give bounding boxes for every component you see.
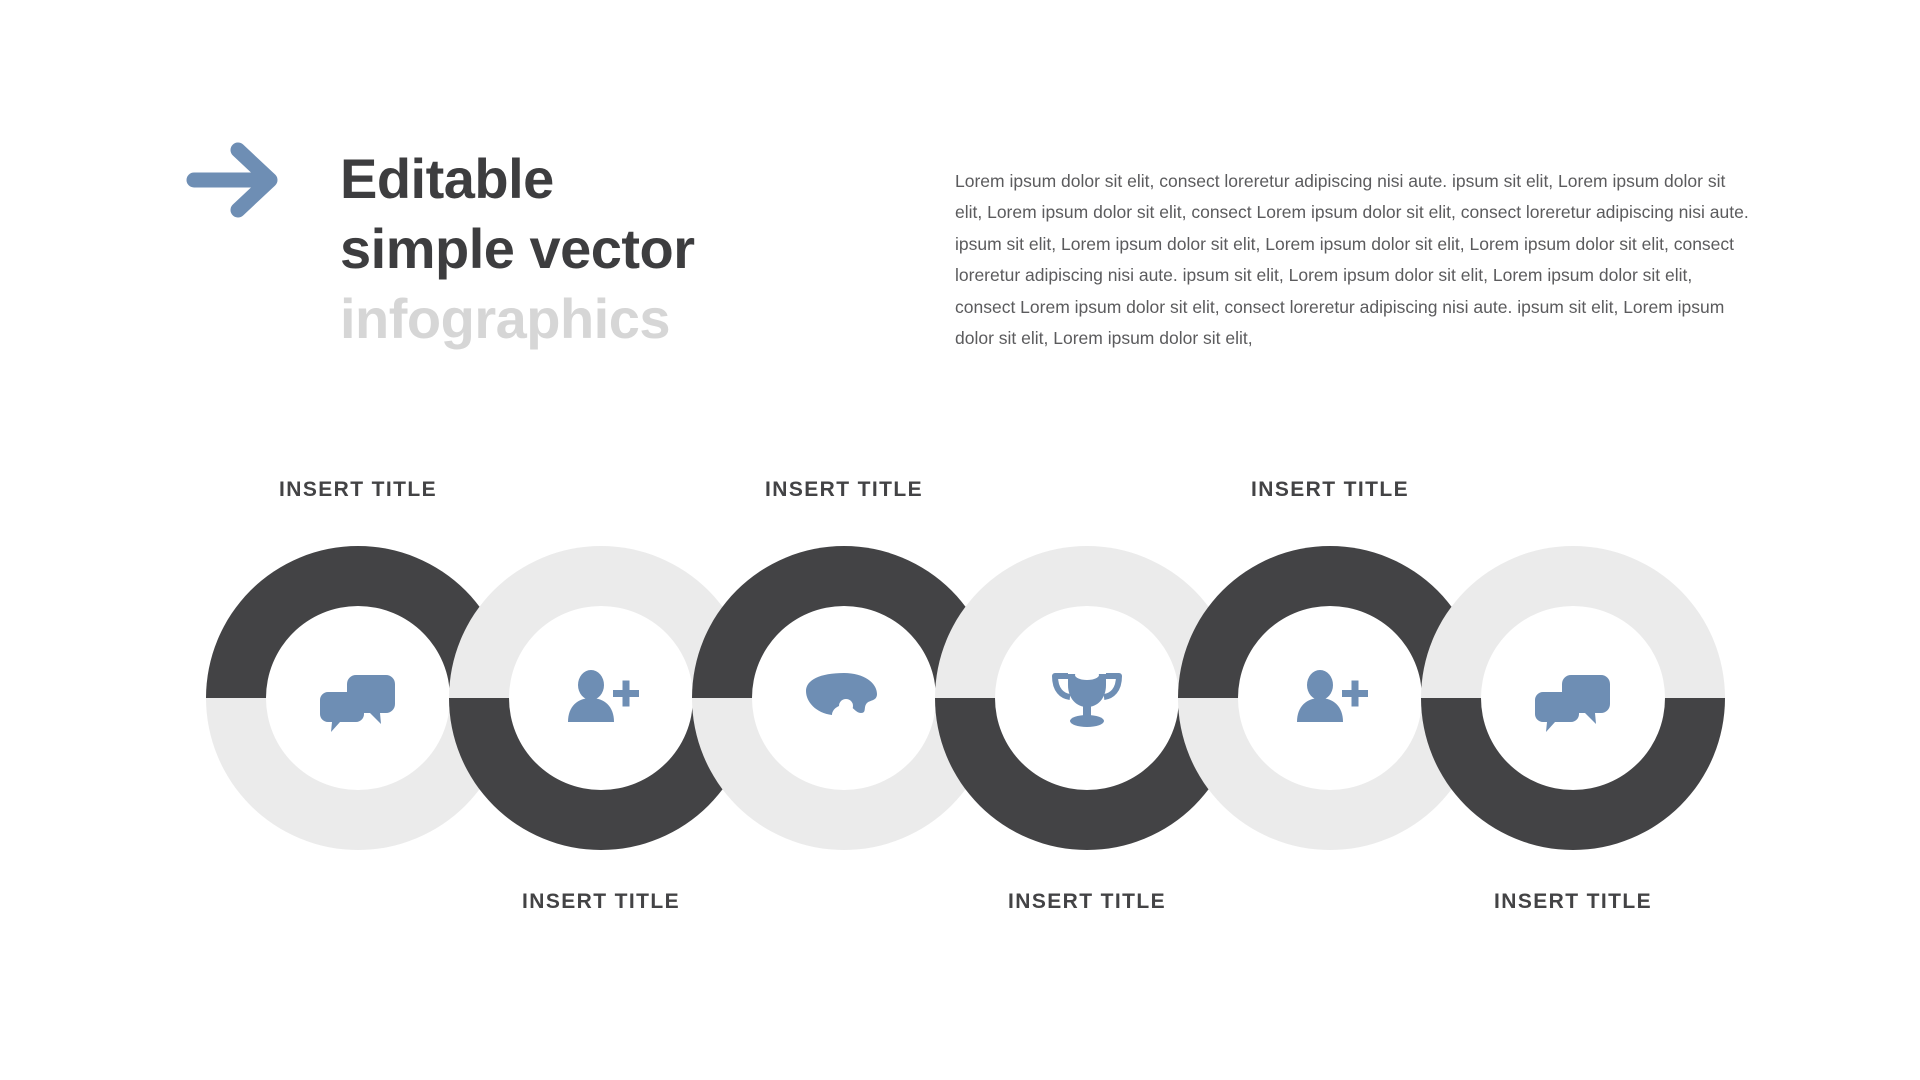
serpentine-process-chain (0, 500, 1920, 860)
title-line-1: Editable (340, 144, 900, 214)
title-line-3: infographics (340, 284, 900, 354)
node-inner-disc (509, 606, 693, 790)
header: Editable simple vector infographics Lore… (0, 0, 1920, 420)
arrow-right-icon (186, 140, 282, 220)
chain-node[interactable] (1421, 546, 1725, 850)
title-line-2: simple vector (340, 214, 900, 284)
node-label-1: INSERT TITLE (279, 478, 437, 502)
chain-svg (0, 500, 1920, 860)
intro-paragraph: Lorem ipsum dolor sit elit, consect lore… (955, 166, 1755, 355)
page-title: Editable simple vector infographics (340, 144, 900, 354)
node-label-2: INSERT TITLE (522, 890, 680, 914)
node-label-5: INSERT TITLE (1251, 478, 1409, 502)
node-inner-disc (1238, 606, 1422, 790)
node-label-4: INSERT TITLE (1008, 890, 1166, 914)
node-label-6: INSERT TITLE (1494, 890, 1652, 914)
node-label-3: INSERT TITLE (765, 478, 923, 502)
